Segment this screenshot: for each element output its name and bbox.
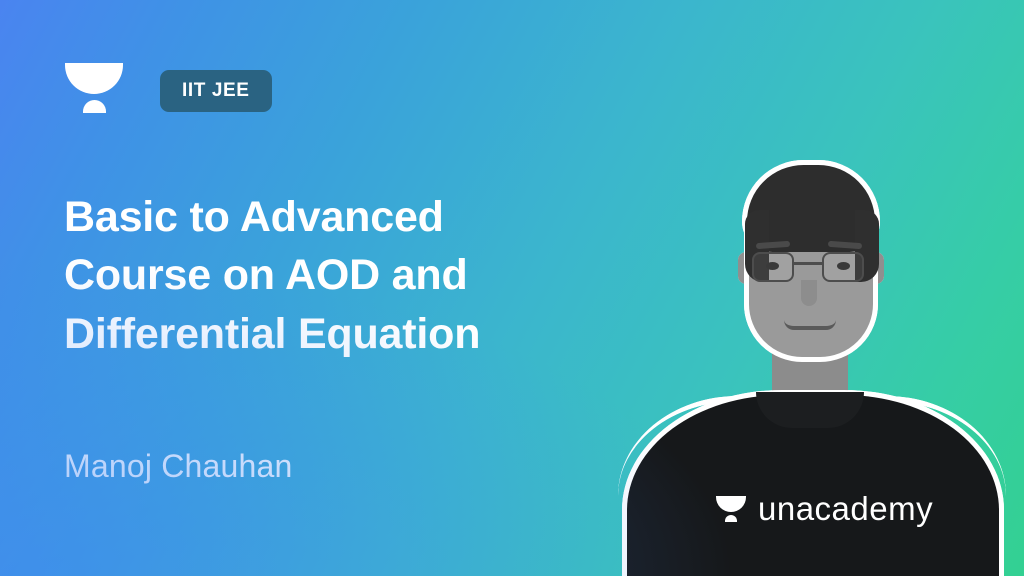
tshirt-brand-mark: unacademy xyxy=(716,490,933,528)
tshirt-logo-base-shape xyxy=(725,515,737,522)
portrait-eye-right xyxy=(837,262,850,270)
portrait-figure: unacademy xyxy=(596,140,1024,576)
educator-portrait: unacademy xyxy=(596,140,1024,576)
goal-badge[interactable]: IIT JEE xyxy=(160,70,272,112)
logo-bowl-shape xyxy=(65,63,123,94)
course-title-line-1: Basic to Advanced xyxy=(64,188,624,246)
course-thumbnail-card: IIT JEE Basic to Advanced Course on AOD … xyxy=(0,0,1024,576)
portrait-nose xyxy=(801,280,817,306)
tshirt-wordmark-label: unacademy xyxy=(758,490,933,528)
portrait-mouth xyxy=(784,320,836,330)
course-title: Basic to Advanced Course on AOD and Diff… xyxy=(64,188,624,363)
logo-base-shape xyxy=(83,100,106,113)
glasses-bridge-icon xyxy=(794,262,822,265)
course-title-line-2: Course on AOD and xyxy=(64,246,624,304)
tshirt-bowl-logo-icon xyxy=(716,494,746,524)
unacademy-bowl-logo-icon xyxy=(65,63,123,117)
educator-name: Manoj Chauhan xyxy=(64,448,293,485)
course-title-line-3: Differential Equation xyxy=(64,305,624,363)
goal-badge-label: IIT JEE xyxy=(182,80,250,102)
tshirt-logo-bowl-shape xyxy=(716,496,746,512)
portrait-eye-left xyxy=(766,262,779,270)
